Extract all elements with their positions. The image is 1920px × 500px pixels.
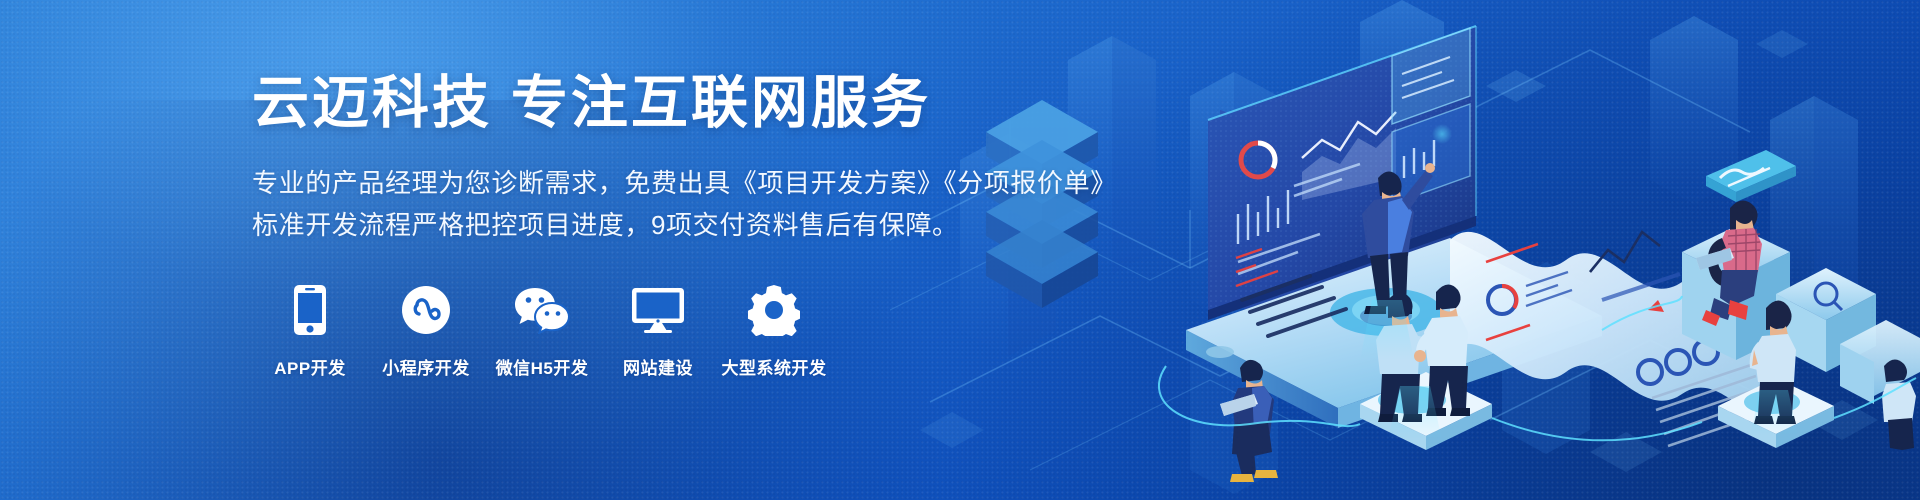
banner-copy: 云迈科技 专注互联网服务 专业的产品经理为您诊断需求，免费出具《项目开发方案》《… [252,72,1182,246]
service-list: APP开发 小程序开发 [252,282,832,379]
phone-icon [293,282,327,338]
service-item-wechat-h5[interactable]: 微信H5开发 [484,282,600,379]
subtitle-line-1: 专业的产品经理为您诊断需求，免费出具《项目开发方案》《分项报价单》 [252,162,1182,204]
service-label: APP开发 [274,354,345,379]
gear-icon [748,282,800,338]
wechat-icon [514,282,570,338]
service-label: 微信H5开发 [496,354,589,379]
service-label: 网站建设 [623,354,693,379]
subtitle-line-2: 标准开发流程严格把控项目进度，9项交付资料售后有保障。 [252,204,1182,246]
service-item-app[interactable]: APP开发 [252,282,368,379]
service-item-mini-program[interactable]: 小程序开发 [368,282,484,379]
page-title: 云迈科技 专注互联网服务 [252,72,1182,136]
monitor-icon [631,282,685,338]
service-label: 大型系统开发 [722,354,827,379]
promo-banner: 云迈科技 专注互联网服务 专业的产品经理为您诊断需求，免费出具《项目开发方案》《… [0,0,1920,500]
service-item-website[interactable]: 网站建设 [600,282,716,379]
service-label: 小程序开发 [382,354,470,379]
mini-program-icon [401,282,451,338]
service-item-large-system[interactable]: 大型系统开发 [716,282,832,379]
